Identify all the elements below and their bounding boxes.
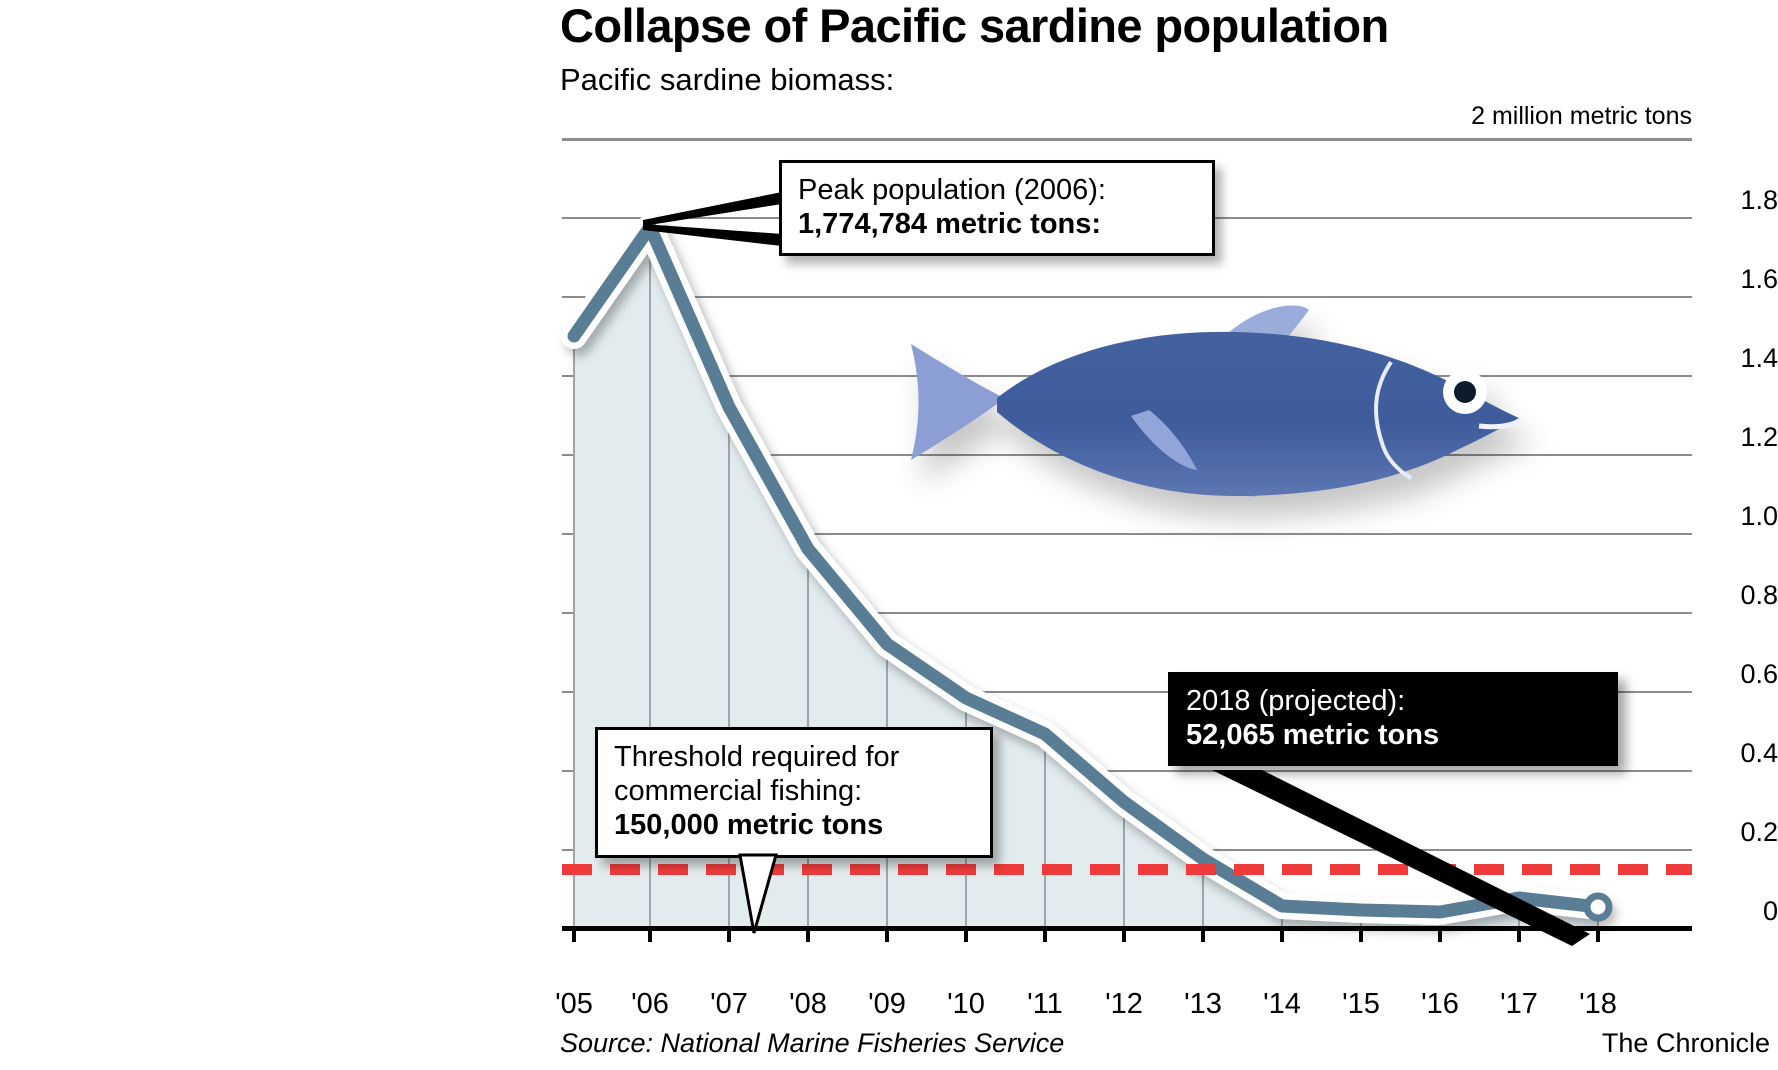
x-label-17: '17	[1500, 988, 1538, 1021]
infographic-root: Collapse of Pacific sardine population P…	[0, 0, 1778, 1070]
endpoint-marker-2018	[1587, 896, 1609, 918]
x-tick-mark	[1280, 928, 1284, 942]
x-tick-mark	[885, 928, 889, 942]
x-label-07: '07	[710, 988, 748, 1021]
y-tick-0.6: 0.6	[1740, 659, 1778, 690]
callout-peak-line2: 1,774,784 metric tons:	[798, 207, 1196, 241]
threshold-line	[562, 864, 1692, 875]
y-tick-0.4: 0.4	[1740, 738, 1778, 769]
x-tick-mark	[1596, 928, 1600, 942]
y-tick-1.2: 1.2	[1740, 422, 1778, 453]
x-label-12: '12	[1105, 988, 1143, 1021]
fish-eye-pupil	[1454, 381, 1476, 403]
callout-threshold-line2: commercial fishing:	[614, 774, 974, 808]
y-tick-0.2: 0.2	[1740, 817, 1778, 848]
x-tick-mark	[1122, 928, 1126, 942]
fish-group	[911, 306, 1521, 497]
x-tick-mark	[964, 928, 968, 942]
x-label-16: '16	[1421, 988, 1459, 1021]
x-axis-baseline	[562, 926, 1692, 931]
y-tick-0: 0	[1763, 896, 1778, 927]
x-label-09: '09	[868, 988, 906, 1021]
callout-threshold-line3: 150,000 metric tons	[614, 808, 974, 842]
x-label-14: '14	[1263, 988, 1301, 1021]
y-axis-top-caption: 2 million metric tons	[1471, 102, 1692, 131]
fish-tail-fin	[911, 344, 1005, 460]
x-axis-labels: '05 '06 '07 '08 '09 '10 '11 '12 '13 '14 …	[562, 988, 1692, 1028]
callout-threshold: Threshold required for commercial fishin…	[595, 727, 993, 858]
x-tick-mark	[648, 928, 652, 942]
y-tick-1.0: 1.0	[1740, 501, 1778, 532]
x-label-06: '06	[631, 988, 669, 1021]
sardine-illustration	[905, 300, 1545, 530]
x-label-05: '05	[555, 988, 593, 1021]
x-label-15: '15	[1342, 988, 1380, 1021]
callout-projected-2018: 2018 (projected): 52,065 metric tons	[1168, 672, 1618, 766]
fish-body	[997, 332, 1519, 496]
x-label-08: '08	[789, 988, 827, 1021]
callout-2018-line1: 2018 (projected):	[1186, 684, 1600, 718]
x-label-11: '11	[1027, 988, 1063, 1021]
x-tick-mark	[727, 928, 731, 942]
publication-credit: The Chronicle	[1602, 1028, 1770, 1059]
chart-subtitle: Pacific sardine biomass:	[560, 62, 894, 98]
page-title: Collapse of Pacific sardine population	[560, 2, 1389, 49]
y-tick-0.8: 0.8	[1740, 580, 1778, 611]
x-label-18: '18	[1579, 988, 1617, 1021]
x-tick-mark	[1201, 928, 1205, 942]
y-tick-1.6: 1.6	[1740, 264, 1778, 295]
x-label-10: '10	[947, 988, 985, 1021]
x-tick-mark	[806, 928, 810, 942]
x-tick-mark	[1438, 928, 1442, 942]
callout-peak-line1: Peak population (2006):	[798, 173, 1196, 207]
source-note: Source: National Marine Fisheries Servic…	[560, 1028, 1064, 1059]
x-tick-mark	[572, 928, 576, 942]
x-tick-mark	[1517, 928, 1521, 942]
x-tick-mark	[1359, 928, 1363, 942]
x-tick-mark	[1043, 928, 1047, 942]
y-tick-1.8: 1.8	[1740, 185, 1778, 216]
x-label-13: '13	[1184, 988, 1222, 1021]
callout-peak-population: Peak population (2006): 1,774,784 metric…	[779, 160, 1215, 256]
callout-threshold-line1: Threshold required for	[614, 740, 974, 774]
callout-2018-line2: 52,065 metric tons	[1186, 718, 1600, 752]
y-tick-1.4: 1.4	[1740, 343, 1778, 374]
